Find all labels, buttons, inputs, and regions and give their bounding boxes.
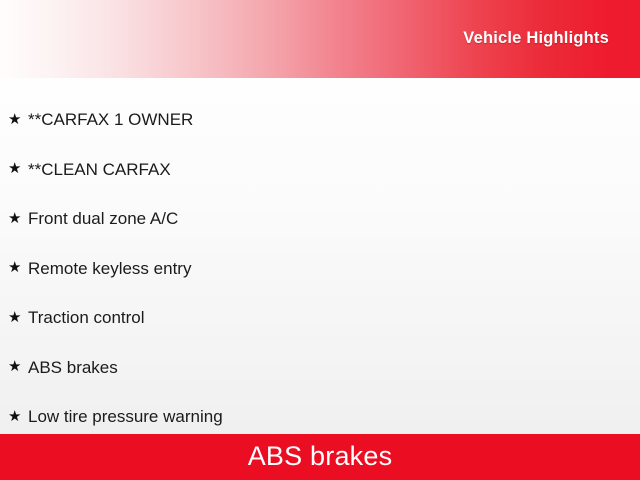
list-item: ★ Remote keyless entry — [0, 244, 640, 294]
star-icon: ★ — [8, 310, 28, 325]
vehicle-highlights-card: Vehicle Highlights ★ **CARFAX 1 OWNER ★ … — [0, 0, 640, 480]
star-icon: ★ — [8, 211, 28, 226]
header-banner: Vehicle Highlights — [0, 0, 640, 78]
list-item: ★ ABS brakes — [0, 343, 640, 393]
footer-feature-label: ABS brakes — [248, 443, 393, 470]
list-item-label: **CLEAN CARFAX — [28, 161, 171, 178]
star-icon: ★ — [8, 112, 28, 127]
page-title: Vehicle Highlights — [463, 30, 609, 47]
list-item: ★ **CARFAX 1 OWNER — [0, 95, 640, 145]
star-icon: ★ — [8, 409, 28, 424]
star-icon: ★ — [8, 260, 28, 275]
list-item-label: Traction control — [28, 309, 145, 326]
list-item-label: ABS brakes — [28, 359, 118, 376]
list-item: ★ Low tire pressure warning — [0, 392, 640, 442]
list-item: ★ **CLEAN CARFAX — [0, 145, 640, 195]
star-icon: ★ — [8, 359, 28, 374]
highlights-list: ★ **CARFAX 1 OWNER ★ **CLEAN CARFAX ★ Fr… — [0, 95, 640, 442]
list-item-label: Low tire pressure warning — [28, 408, 223, 425]
star-icon: ★ — [8, 161, 28, 176]
list-item-label: **CARFAX 1 OWNER — [28, 111, 193, 128]
list-item-label: Remote keyless entry — [28, 260, 191, 277]
list-item: ★ Traction control — [0, 293, 640, 343]
list-item-label: Front dual zone A/C — [28, 210, 178, 227]
list-item: ★ Front dual zone A/C — [0, 194, 640, 244]
highlights-body: ★ **CARFAX 1 OWNER ★ **CLEAN CARFAX ★ Fr… — [0, 78, 640, 434]
